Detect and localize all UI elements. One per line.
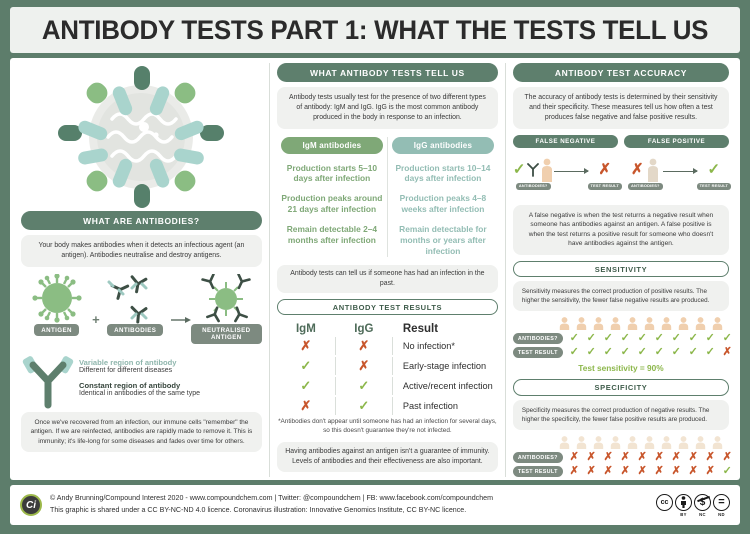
false-result-pills: FALSE NEGATIVE FALSE POSITIVE [513,135,729,148]
igm-fact-1: Production starts 5–10 days after infect… [281,163,383,185]
specificity-row2-marks: ✗✗✗✗✗✗✗✗✗✓ [567,466,739,477]
sensitivity-stat: Test sensitivity = 90% [513,363,729,373]
cross-icon: ✗ [703,466,718,477]
arrow-symbol [171,290,191,327]
tick-icon: ✓ [567,333,582,344]
specificity-desc: Specificity measures the correct product… [513,400,729,430]
igg-fact-2: Production peaks 4–8 weeks after infecti… [392,193,494,215]
cross-icon: ✗ [669,466,684,477]
coronavirus-icon [56,64,226,210]
cell-result: No infection* [393,341,498,351]
false-negative-diagram: ✓ ANTIBODIES? [513,159,622,199]
antigen-icon [29,274,85,324]
cc-nd-label: ND [718,512,725,517]
fn-antibodies-item: ✓ ANTIBODIES? [513,159,554,190]
results-footnote: *Antibodies don't appear until someone h… [277,418,498,436]
cell-igm: ✓ [277,357,335,375]
header-what-are-antibodies: WHAT ARE ANTIBODIES? [21,211,262,230]
header-what-tests-tell-us: WHAT ANTIBODY TESTS TELL US [277,63,498,82]
fp-result-mark: ✓ [708,162,721,177]
antibody-test-results-table: IgM IgG Result ✗✗No infection*✓✗Early-st… [277,320,498,416]
tick-icon: ✓ [618,333,633,344]
tick-icon: ✓ [601,333,616,344]
plus-symbol: + [92,290,100,327]
specificity-result-row: TEST RESULT ✗✗✗✗✗✗✗✗✗✓ [513,466,729,477]
igm-column: IgM antibodies Production starts 5–10 da… [277,137,388,257]
antibody-small-icon [527,163,539,177]
column-header-igm: IgM [277,323,335,335]
person-icon [676,436,691,449]
fp-antibodies-item: ✗ ANTIBODIES? [628,159,663,190]
person-icon [646,158,660,182]
neutralised-antigen-label: NEUTRALISED ANTIGEN [191,324,262,344]
tick-icon: ✓ [720,466,735,477]
tick-icon: ✓ [703,333,718,344]
tick-icon: ✓ [720,333,735,344]
antigen-antibody-diagram: ANTIGEN + [21,274,262,344]
header-antibody-test-accuracy: ANTIBODY TEST ACCURACY [513,63,729,82]
sensitivity-result-row: TEST RESULT ✓✓✓✓✓✓✓✓✓✗ [513,347,729,358]
tick-icon: ✓ [358,398,369,413]
tick-icon: ✓ [601,347,616,358]
cc-by-label: BY [680,512,686,517]
tick-icon: ✓ [652,347,667,358]
cross-icon: ✗ [567,452,582,463]
fn-result-item: ✗ TEST RESULT [588,159,623,190]
person-icon [710,436,725,449]
table-row: ✗✗No infection* [277,336,498,356]
variable-region-desc: Different for different diseases [79,367,262,374]
sensitivity-desc: Sensitivity measures the correct product… [513,281,729,311]
neutralised-antigen-group: NEUTRALISED ANTIGEN [191,274,262,344]
cc-by-icon: BY [675,494,692,517]
false-result-explanation: A false negative is when the test return… [513,205,729,255]
header-antibody-test-results: ANTIBODY TEST RESULTS [277,299,498,316]
cross-icon: ✗ [601,466,616,477]
person-icon [676,317,691,330]
fn-antibodies-tag: ANTIBODIES? [516,183,551,190]
fn-antibodies-mark: ✓ [513,162,526,177]
column-what-are-antibodies: WHAT ARE ANTIBODIES? Your body makes ant… [14,63,270,477]
column-test-accuracy: ANTIBODY TEST ACCURACY The accuracy of a… [506,63,736,477]
cross-icon: ✗ [567,466,582,477]
person-icon [574,317,589,330]
column-what-tests-tell-us: WHAT ANTIBODY TESTS TELL US Antibody tes… [270,63,506,477]
igg-column: IgG antibodies Production starts 10–14 d… [388,137,498,257]
header-specificity: SPECIFICITY [513,379,729,396]
person-icon [557,436,572,449]
ig-comparison: IgM antibodies Production starts 5–10 da… [277,137,498,257]
tick-icon: ✓ [686,347,701,358]
specificity-row2-tag: TEST RESULT [513,466,563,477]
person-icon [557,317,572,330]
cross-icon: ✗ [686,452,701,463]
fn-arrow-icon [554,171,588,172]
tick-icon: ✓ [584,333,599,344]
tick-icon: ✓ [300,378,311,393]
tick-icon: ✓ [652,333,667,344]
person-icon [659,317,674,330]
tick-icon: ✓ [635,333,650,344]
tick-icon: ✓ [584,347,599,358]
coronavirus-illustration [21,63,262,211]
antibody-structure-icon [21,353,75,409]
immunity-guarantee-note: Having antibodies against an antigen isn… [277,442,498,472]
false-result-diagrams: ✓ ANTIBODIES? [513,154,729,199]
cross-icon: ✗ [703,452,718,463]
antibody-region-texts: Variable region of antibody Different fo… [79,358,262,404]
person-icon [642,436,657,449]
cc-icon: cc [656,494,673,517]
person-icon [591,436,606,449]
specificity-antibodies-row: ANTIBODIES? ✗✗✗✗✗✗✗✗✗✗ [513,452,729,463]
past-infection-note: Antibody tests can tell us if someone ha… [277,265,498,293]
cell-result: Early-stage infection [393,361,498,371]
fn-result-tag: TEST RESULT [588,183,623,190]
cross-icon: ✗ [669,452,684,463]
tests-intro: Antibody tests usually test for the pres… [277,87,498,129]
cross-icon: ✗ [720,452,735,463]
compound-interest-logo: Ci [20,494,42,516]
antigen-label: ANTIGEN [34,324,79,336]
false-positive-label: FALSE POSITIVE [624,135,729,148]
igm-fact-2: Production peaks around 21 days after in… [281,193,383,215]
cross-icon: ✗ [601,452,616,463]
page-title: ANTIBODY TESTS PART 1: WHAT THE TESTS TE… [42,15,708,46]
igm-label: IgM antibodies [281,137,383,154]
specificity-people-row [513,436,729,449]
person-icon [693,436,708,449]
cc-nd-icon: = ND [713,494,730,517]
specificity-row1-marks: ✗✗✗✗✗✗✗✗✗✗ [567,452,739,463]
sensitivity-row2-tag: TEST RESULT [513,347,563,358]
sensitivity-people-row [513,317,729,330]
accuracy-intro: The accuracy of antibody tests is determ… [513,87,729,129]
tick-icon: ✓ [669,333,684,344]
antibodies-icon [103,274,167,324]
specificity-row1-tag: ANTIBODIES? [513,452,563,463]
fp-arrow-icon [663,171,697,172]
cross-icon: ✗ [358,358,369,373]
cc-nc-icon: $ NC [694,494,711,517]
fp-result-tag: TEST RESULT [697,183,732,190]
person-icon [574,436,589,449]
cross-icon: ✗ [720,347,735,358]
cell-result: Active/recent infection [393,381,498,391]
fn-result-mark: ✗ [598,162,611,177]
cell-igm: ✗ [277,337,335,355]
antibodies-intro: Your body makes antibodies when it detec… [21,235,262,267]
constant-region-title: Constant region of antibody [79,381,262,390]
table-body: ✗✗No infection*✓✗Early-stage infection✓✓… [277,336,498,416]
person-icon [625,436,640,449]
igg-fact-3: Remain detectable for months or years af… [392,224,494,257]
person-icon [642,317,657,330]
person-icon [540,158,554,182]
igg-fact-1: Production starts 10–14 days after infec… [392,163,494,185]
tick-icon: ✓ [669,347,684,358]
body-panel: WHAT ARE ANTIBODIES? Your body makes ant… [10,58,740,480]
cc-nd-glyph: = [713,494,730,511]
igg-label: IgG antibodies [392,137,494,154]
false-positive-block: FALSE POSITIVE [624,135,729,148]
person-icon [591,317,606,330]
sensitivity-antibodies-row: ANTIBODIES? ✓✓✓✓✓✓✓✓✓✓ [513,333,729,344]
cell-igg: ✗ [335,337,393,355]
person-icon [625,317,640,330]
sensitivity-row1-marks: ✓✓✓✓✓✓✓✓✓✓ [567,333,739,344]
fp-antibodies-mark: ✗ [631,162,644,177]
column-header-igg: IgG [335,323,393,335]
false-negative-label: FALSE NEGATIVE [513,135,618,148]
antibodies-label: ANTIBODIES [107,324,163,336]
footer-line-2: This graphic is shared under a CC BY-NC-… [50,505,656,517]
person-icon [693,317,708,330]
fp-antibodies-tag: ANTIBODIES? [628,183,663,190]
header-sensitivity: SENSITIVITY [513,261,729,278]
cell-result: Past infection [393,401,498,411]
antigen-group: ANTIGEN [21,274,92,336]
false-positive-diagram: ✗ ANTIBODIES? ✓ TEST RESUL [628,159,731,199]
cross-icon: ✗ [584,466,599,477]
neutralised-antigen-icon [195,274,257,324]
sensitivity-grid: ANTIBODIES? ✓✓✓✓✓✓✓✓✓✓ TEST RESULT ✓✓✓✓✓… [513,317,729,373]
sensitivity-row2-marks: ✓✓✓✓✓✓✓✓✓✗ [567,347,739,358]
tick-icon: ✓ [686,333,701,344]
sensitivity-row1-tag: ANTIBODIES? [513,333,563,344]
variable-region-title: Variable region of antibody [79,358,262,367]
title-bar: ANTIBODY TESTS PART 1: WHAT THE TESTS TE… [10,7,740,53]
antibody-regions-diagram: Variable region of antibody Different fo… [21,353,262,409]
footer-credits: © Andy Brunning/Compound Interest 2020 -… [42,493,656,516]
tick-icon: ✓ [635,347,650,358]
tick-icon: ✓ [567,347,582,358]
cross-icon: ✗ [618,466,633,477]
cell-igg: ✓ [335,377,393,395]
column-header-result: Result [393,323,498,335]
cross-icon: ✗ [300,338,311,353]
cell-igm: ✓ [277,377,335,395]
table-row: ✓✓Active/recent infection [277,376,498,396]
person-icon [710,317,725,330]
table-row: ✗✓Past infection [277,396,498,416]
table-row: ✓✗Early-stage infection [277,356,498,376]
cross-icon: ✗ [358,338,369,353]
igm-fact-3: Remain detectable 2–4 months after infec… [281,224,383,246]
cross-icon: ✗ [635,466,650,477]
false-negative-block: FALSE NEGATIVE [513,135,618,148]
creative-commons-badges: cc BY $ NC = ND [656,494,730,517]
cell-igm: ✗ [277,397,335,415]
cross-icon: ✗ [652,466,667,477]
person-icon [608,317,623,330]
immunity-note: Once we've recovered from an infection, … [21,412,262,452]
cross-icon: ✗ [635,452,650,463]
table-header-row: IgM IgG Result [277,320,498,336]
antibodies-group: ANTIBODIES [100,274,171,336]
tick-icon: ✓ [703,347,718,358]
infographic-page: ANTIBODY TESTS PART 1: WHAT THE TESTS TE… [0,0,750,534]
cross-icon: ✗ [584,452,599,463]
cc-nc-label: NC [699,512,706,517]
cross-icon: ✗ [686,466,701,477]
tick-icon: ✓ [618,347,633,358]
cell-igg: ✗ [335,357,393,375]
right-arrow-icon [171,316,191,324]
cell-igg: ✓ [335,397,393,415]
constant-region-desc: Identical in antibodies of the same type [79,390,262,397]
fp-result-item: ✓ TEST RESULT [697,159,732,190]
person-icon [659,436,674,449]
footer: Ci © Andy Brunning/Compound Interest 202… [10,485,740,525]
tick-icon: ✓ [358,378,369,393]
cross-icon: ✗ [618,452,633,463]
person-icon [608,436,623,449]
specificity-grid: ANTIBODIES? ✗✗✗✗✗✗✗✗✗✗ TEST RESULT ✗✗✗✗✗… [513,436,729,480]
cross-icon: ✗ [652,452,667,463]
footer-line-1: © Andy Brunning/Compound Interest 2020 -… [50,493,656,505]
tick-icon: ✓ [300,358,311,373]
cross-icon: ✗ [300,398,311,413]
